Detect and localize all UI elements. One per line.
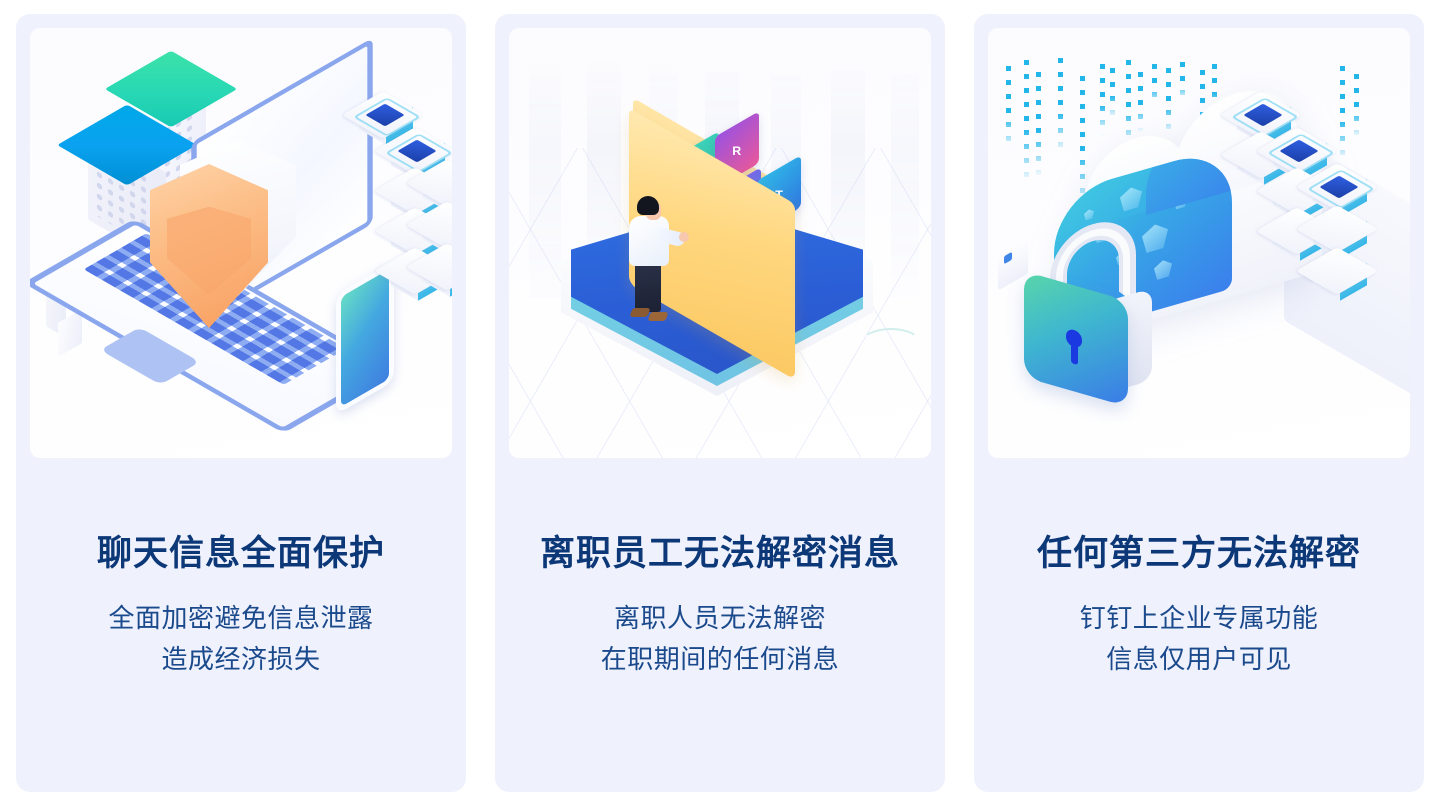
- person-figure: [627, 196, 683, 324]
- card-subtitle-line: 离职人员无法解密: [509, 598, 931, 638]
- cloud-lock-illustration: [988, 28, 1410, 458]
- feature-card-third-party[interactable]: 任何第三方无法解密 钉钉上企业专属功能 信息仅用户可见: [974, 14, 1424, 792]
- card-subtitle-line: 钉钉上企业专属功能: [988, 598, 1410, 638]
- card-subtitle-line: 在职期间的任何消息: [509, 639, 931, 679]
- card-title: 任何第三方无法解密: [988, 534, 1410, 574]
- card-title: 聊天信息全面保护: [30, 534, 452, 574]
- server-rack-unit: [1304, 206, 1376, 252]
- server-rack-unit: [414, 244, 452, 290]
- card-caption: 聊天信息全面保护 全面加密避免信息泄露 造成经济损失: [30, 534, 452, 679]
- person-shoe: [648, 312, 669, 321]
- feature-cards-page: 聊天信息全面保护 全面加密避免信息泄露 造成经济损失 C R mp3: [0, 0, 1440, 810]
- server-rack-unit: [414, 160, 452, 206]
- padlock-icon: [1018, 224, 1160, 400]
- person-hand: [679, 232, 689, 242]
- card-title: 离职员工无法解密消息: [509, 534, 931, 574]
- server-rack-unit: [1304, 248, 1376, 294]
- person-hair: [637, 196, 659, 215]
- card-subtitle: 钉钉上企业专属功能 信息仅用户可见: [988, 598, 1410, 679]
- person-legs: [635, 260, 661, 312]
- card-subtitle-line: 信息仅用户可见: [988, 639, 1410, 679]
- server-rack-unit: [1304, 164, 1376, 210]
- feature-card-chat-protection[interactable]: 聊天信息全面保护 全面加密避免信息泄露 造成经济损失: [16, 14, 466, 792]
- card-caption: 离职员工无法解密消息 离职人员无法解密 在职期间的任何消息: [509, 534, 931, 679]
- file-card-label: R: [733, 143, 742, 157]
- card-subtitle: 离职人员无法解密 在职期间的任何消息: [509, 598, 931, 679]
- feature-card-former-employee[interactable]: C R mp3 T: [495, 14, 945, 792]
- folder-files-person-illustration: C R mp3 T: [509, 28, 931, 458]
- server-rack-unit: [414, 202, 452, 248]
- card-caption: 任何第三方无法解密 钉钉上企业专属功能 信息仅用户可见: [988, 534, 1410, 679]
- data-rain-pattern-right: [1340, 62, 1364, 172]
- card-subtitle-line: 全面加密避免信息泄露: [30, 598, 452, 638]
- card-subtitle-line: 造成经济损失: [30, 639, 452, 679]
- card-subtitle: 全面加密避免信息泄露 造成经济损失: [30, 598, 452, 679]
- decorative-arc: [861, 328, 921, 358]
- laptop-shield-illustration: [30, 28, 452, 458]
- person-shoe: [630, 308, 651, 317]
